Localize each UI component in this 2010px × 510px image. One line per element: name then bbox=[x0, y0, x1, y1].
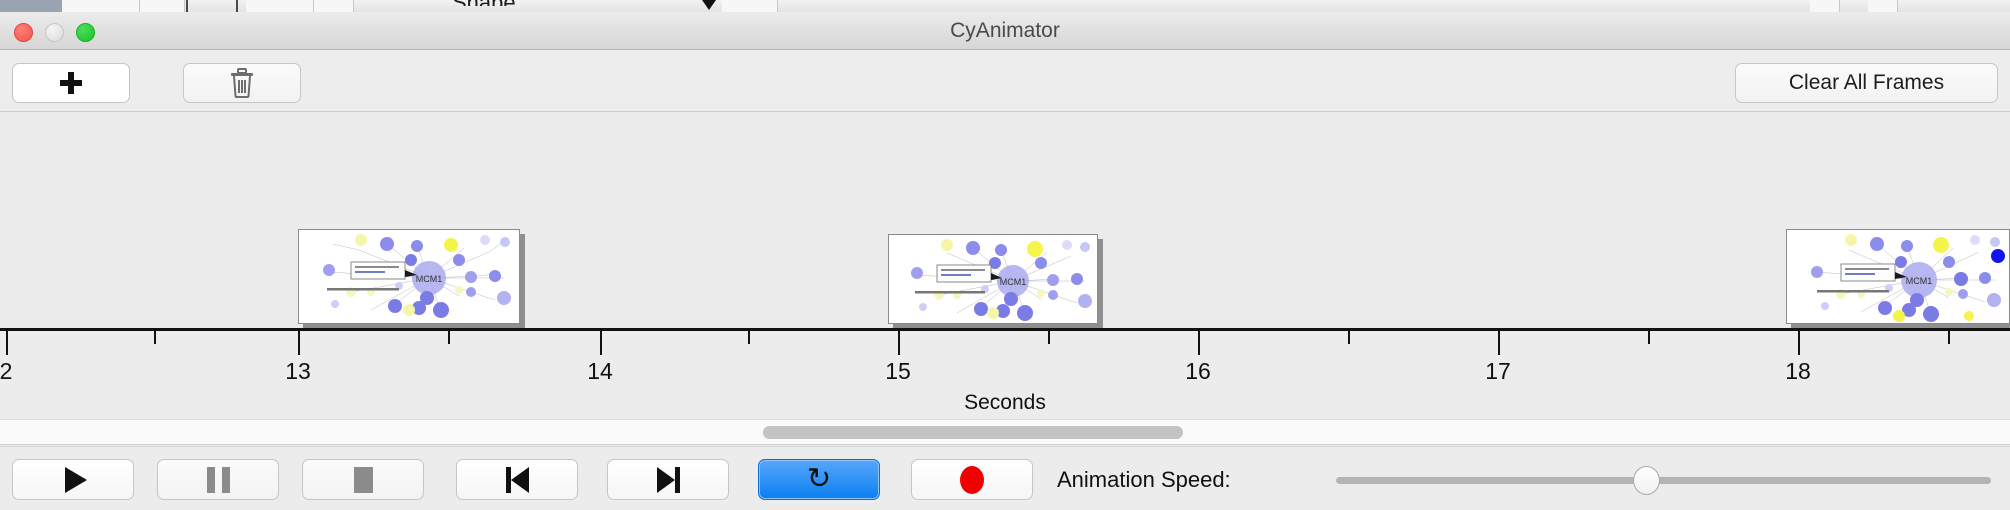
timeline-horizontal-scrollbar[interactable] bbox=[0, 419, 2010, 445]
axis-tick-major bbox=[898, 331, 900, 355]
delete-frame-button[interactable] bbox=[183, 63, 301, 103]
stop-button[interactable] bbox=[302, 459, 424, 500]
network-graph-thumbnail: MCM1 bbox=[1787, 230, 2010, 324]
axis-tick-major bbox=[600, 331, 602, 355]
window-title: CyAnimator bbox=[0, 12, 2010, 50]
skip-forward-icon bbox=[657, 467, 680, 493]
axis-tick-major bbox=[1498, 331, 1500, 355]
svg-text:MCM1: MCM1 bbox=[1906, 276, 1933, 286]
axis-tick-label: 18 bbox=[1785, 358, 1811, 385]
clear-all-frames-label: Clear All Frames bbox=[1789, 71, 1944, 95]
animation-speed-slider-thumb[interactable] bbox=[1633, 466, 1660, 495]
pause-button[interactable] bbox=[157, 459, 279, 500]
play-button[interactable] bbox=[12, 459, 134, 500]
title-bar: CyAnimator bbox=[0, 12, 2010, 50]
axis-tick-label: 16 bbox=[1185, 358, 1211, 385]
network-graph-thumbnail: MCM1 bbox=[299, 230, 520, 324]
axis-tick-major bbox=[1798, 331, 1800, 355]
timeline-frame-thumbnail[interactable]: MCM1 bbox=[888, 234, 1098, 324]
axis-title: Seconds bbox=[0, 391, 2010, 415]
background-window-strip: Shape bbox=[0, 0, 2010, 12]
axis-tick-label: 17 bbox=[1485, 358, 1511, 385]
playback-control-bar: ↻ Animation Speed: bbox=[0, 446, 2010, 510]
timeline-panel[interactable]: MCM1 bbox=[0, 113, 2010, 419]
skip-back-icon bbox=[506, 467, 529, 493]
axis-tick-minor bbox=[1648, 331, 1650, 344]
plus-icon bbox=[60, 72, 82, 94]
animation-speed-slider[interactable] bbox=[1336, 477, 1991, 484]
axis-tick-major bbox=[1198, 331, 1200, 355]
svg-text:MCM1: MCM1 bbox=[1000, 277, 1027, 287]
loop-button[interactable]: ↻ bbox=[758, 459, 880, 500]
add-frame-button[interactable] bbox=[12, 63, 130, 103]
svg-text:MCM1: MCM1 bbox=[416, 274, 443, 284]
scrollbar-thumb[interactable] bbox=[763, 426, 1183, 439]
frame-toolbar: Clear All Frames bbox=[0, 50, 2010, 112]
axis-tick-label: 15 bbox=[885, 358, 911, 385]
timeline-frame-thumbnail[interactable]: MCM1 bbox=[298, 229, 520, 324]
pause-icon bbox=[207, 467, 230, 493]
loop-icon: ↻ bbox=[807, 465, 831, 494]
axis-tick-label: 13 bbox=[285, 358, 311, 385]
axis-tick-major bbox=[6, 331, 8, 355]
frame-image: MCM1 bbox=[888, 234, 1098, 324]
frame-image: MCM1 bbox=[298, 229, 520, 324]
play-icon bbox=[65, 467, 87, 493]
axis-tick-label: 2 bbox=[0, 358, 12, 385]
record-icon bbox=[960, 466, 984, 494]
axis-tick-minor bbox=[154, 331, 156, 344]
axis-tick-label: 14 bbox=[587, 358, 613, 385]
axis-tick-minor bbox=[1048, 331, 1050, 344]
record-button[interactable] bbox=[911, 459, 1033, 500]
axis-tick-minor bbox=[748, 331, 750, 344]
skip-forward-button[interactable] bbox=[607, 459, 729, 500]
background-window-label: Shape bbox=[452, 0, 516, 6]
trash-icon bbox=[229, 68, 255, 98]
axis-tick-major bbox=[298, 331, 300, 355]
timeline-axis bbox=[0, 328, 2010, 331]
clear-all-frames-button[interactable]: Clear All Frames bbox=[1735, 63, 1998, 103]
axis-tick-minor bbox=[1348, 331, 1350, 344]
animation-speed-label: Animation Speed: bbox=[1057, 459, 1231, 500]
frame-image: MCM1 bbox=[1786, 229, 2010, 324]
axis-tick-minor bbox=[448, 331, 450, 344]
stop-icon bbox=[354, 467, 373, 493]
cyanimator-window: Shape CyAnimator Cl bbox=[0, 0, 2010, 510]
skip-back-button[interactable] bbox=[456, 459, 578, 500]
timeline-frame-thumbnail[interactable]: MCM1 bbox=[1786, 229, 2010, 324]
axis-tick-minor bbox=[1948, 331, 1950, 344]
network-graph-thumbnail: MCM1 bbox=[889, 235, 1098, 324]
